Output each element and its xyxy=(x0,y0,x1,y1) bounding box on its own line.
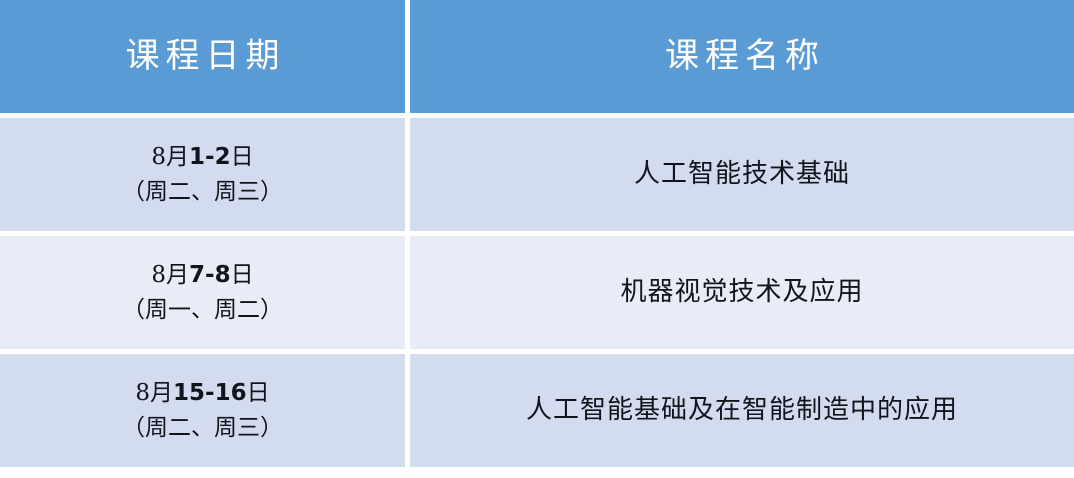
cell-course-name: 机器视觉技术及应用 xyxy=(410,236,1074,349)
date-day-range: 1-2 xyxy=(189,144,231,170)
date-primary-line: 8月7-8日 xyxy=(0,258,405,293)
cell-course-date: 8月7-8日 （周一、周二） xyxy=(0,236,405,349)
date-day-range: 15-16 xyxy=(173,380,247,406)
date-weekday-line: （周一、周二） xyxy=(0,293,405,328)
cell-course-name: 人工智能基础及在智能制造中的应用 xyxy=(410,354,1074,467)
date-primary-line: 8月1-2日 xyxy=(0,140,405,175)
table-row: 8月1-2日 （周二、周三） 人工智能技术基础 xyxy=(0,118,1074,231)
date-primary-line: 8月15-16日 xyxy=(0,376,405,411)
date-day-suffix: 日 xyxy=(231,262,254,288)
cell-course-name: 人工智能技术基础 xyxy=(410,118,1074,231)
cell-course-date: 8月15-16日 （周二、周三） xyxy=(0,354,405,467)
date-weekday-line: （周二、周三） xyxy=(0,411,405,446)
date-month-prefix: 8月 xyxy=(151,144,189,170)
table-row: 8月15-16日 （周二、周三） 人工智能基础及在智能制造中的应用 xyxy=(0,354,1074,467)
date-month-prefix: 8月 xyxy=(151,262,189,288)
date-weekday-line: （周二、周三） xyxy=(0,175,405,210)
table-row: 8月7-8日 （周一、周二） 机器视觉技术及应用 xyxy=(0,236,1074,349)
course-schedule-table: 课程日期 课程名称 8月1-2日 （周二、周三） 人工智能技术基础 xyxy=(0,0,1074,467)
column-header-course-date: 课程日期 xyxy=(0,0,405,113)
cell-course-date: 8月1-2日 （周二、周三） xyxy=(0,118,405,231)
table-header-row: 课程日期 课程名称 xyxy=(0,0,1074,113)
column-header-course-name: 课程名称 xyxy=(410,0,1074,113)
date-day-suffix: 日 xyxy=(231,144,254,170)
date-day-suffix: 日 xyxy=(247,380,270,406)
date-month-prefix: 8月 xyxy=(135,380,173,406)
date-day-range: 7-8 xyxy=(189,262,231,288)
